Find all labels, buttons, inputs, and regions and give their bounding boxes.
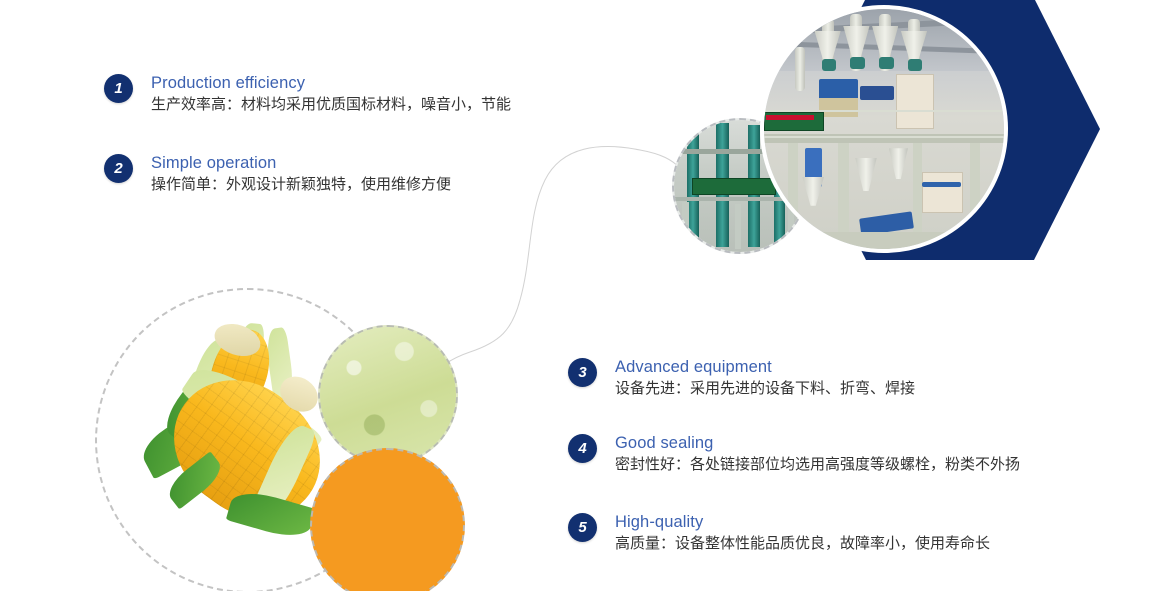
support-post [913, 143, 923, 239]
motor-unit [822, 59, 836, 71]
feature-desc-3: 设备先进：采用先进的设备下料、折弯、焊接 [615, 378, 915, 400]
support-post [788, 143, 798, 239]
machine-main-photo-inner [764, 9, 1004, 249]
feature-number-badge-2: 2 [104, 154, 133, 183]
feature-title-3: Advanced equipment [615, 357, 915, 377]
feature-title-1: Production efficiency [151, 73, 511, 93]
cabinet-stripe [922, 182, 960, 187]
feature-desc-4: 密封性好：各处链接部位均选用高强度等级螺栓，粉类不外扬 [615, 454, 1020, 476]
feature-title-4: Good sealing [615, 433, 1020, 453]
lower-cabinet [922, 172, 962, 212]
motor-unit [850, 57, 864, 69]
banner-red-text [766, 115, 814, 120]
support-post [970, 143, 980, 234]
corn-kernels-texture [312, 450, 463, 591]
feature-desc-1: 生产效率高：材料均采用优质国标材料，噪音小，节能 [151, 94, 511, 116]
inset-post [682, 202, 689, 250]
feature-desc-5: 高质量：设备整体性能品质优良，故障率小，使用寿命长 [615, 533, 990, 555]
feature-number-badge-1: 1 [104, 74, 133, 103]
feature-text-4: Good sealing 密封性好：各处链接部位均选用高强度等级螺栓，粉类不外扬 [615, 433, 1020, 476]
feature-item-1[interactable]: 1 Production efficiency 生产效率高：材料均采用优质国标材… [104, 73, 511, 116]
blue-machine-housing [860, 86, 894, 100]
duct-pipe [795, 47, 805, 90]
feature-desc-2: 操作简单：外观设计新颖独特，使用维修方便 [151, 174, 451, 196]
feature-item-3[interactable]: 3 Advanced equipment 设备先进：采用先进的设备下料、折弯、焊… [568, 357, 915, 400]
feature-title-5: High-quality [615, 512, 990, 532]
feature-text-3: Advanced equipment 设备先进：采用先进的设备下料、折弯、焊接 [615, 357, 915, 400]
motor-unit [908, 59, 922, 71]
feature-item-5[interactable]: 5 High-quality 高质量：设备整体性能品质优良，故障率小，使用寿命长 [568, 512, 990, 555]
feature-item-2[interactable]: 2 Simple operation 操作简单：外观设计新颖独特，使用维修方便 [104, 153, 451, 196]
corn-paste-texture [320, 327, 456, 463]
feature-number-badge-4: 4 [568, 434, 597, 463]
corn-kernels-photo [310, 448, 465, 591]
feature-text-2: Simple operation 操作简单：外观设计新颖独特，使用维修方便 [151, 153, 451, 196]
feature-number-badge-3: 3 [568, 358, 597, 387]
support-post [838, 143, 849, 239]
ground-floor [764, 232, 1004, 249]
machine-main-photo [760, 5, 1008, 253]
motor-unit [879, 57, 893, 69]
inset-post [735, 204, 742, 249]
corn-paste-photo [318, 325, 458, 465]
feature-title-2: Simple operation [151, 153, 451, 173]
feature-text-5: High-quality 高质量：设备整体性能品质优良，故障率小，使用寿命长 [615, 512, 990, 555]
feature-number-badge-5: 5 [568, 513, 597, 542]
feature-text-1: Production efficiency 生产效率高：材料均采用优质国标材料，… [151, 73, 511, 116]
feature-item-4[interactable]: 4 Good sealing 密封性好：各处链接部位均选用高强度等级螺栓，粉类不… [568, 433, 1020, 476]
infographic-page: 1 Production efficiency 生产效率高：材料均采用优质国标材… [0, 0, 1154, 591]
